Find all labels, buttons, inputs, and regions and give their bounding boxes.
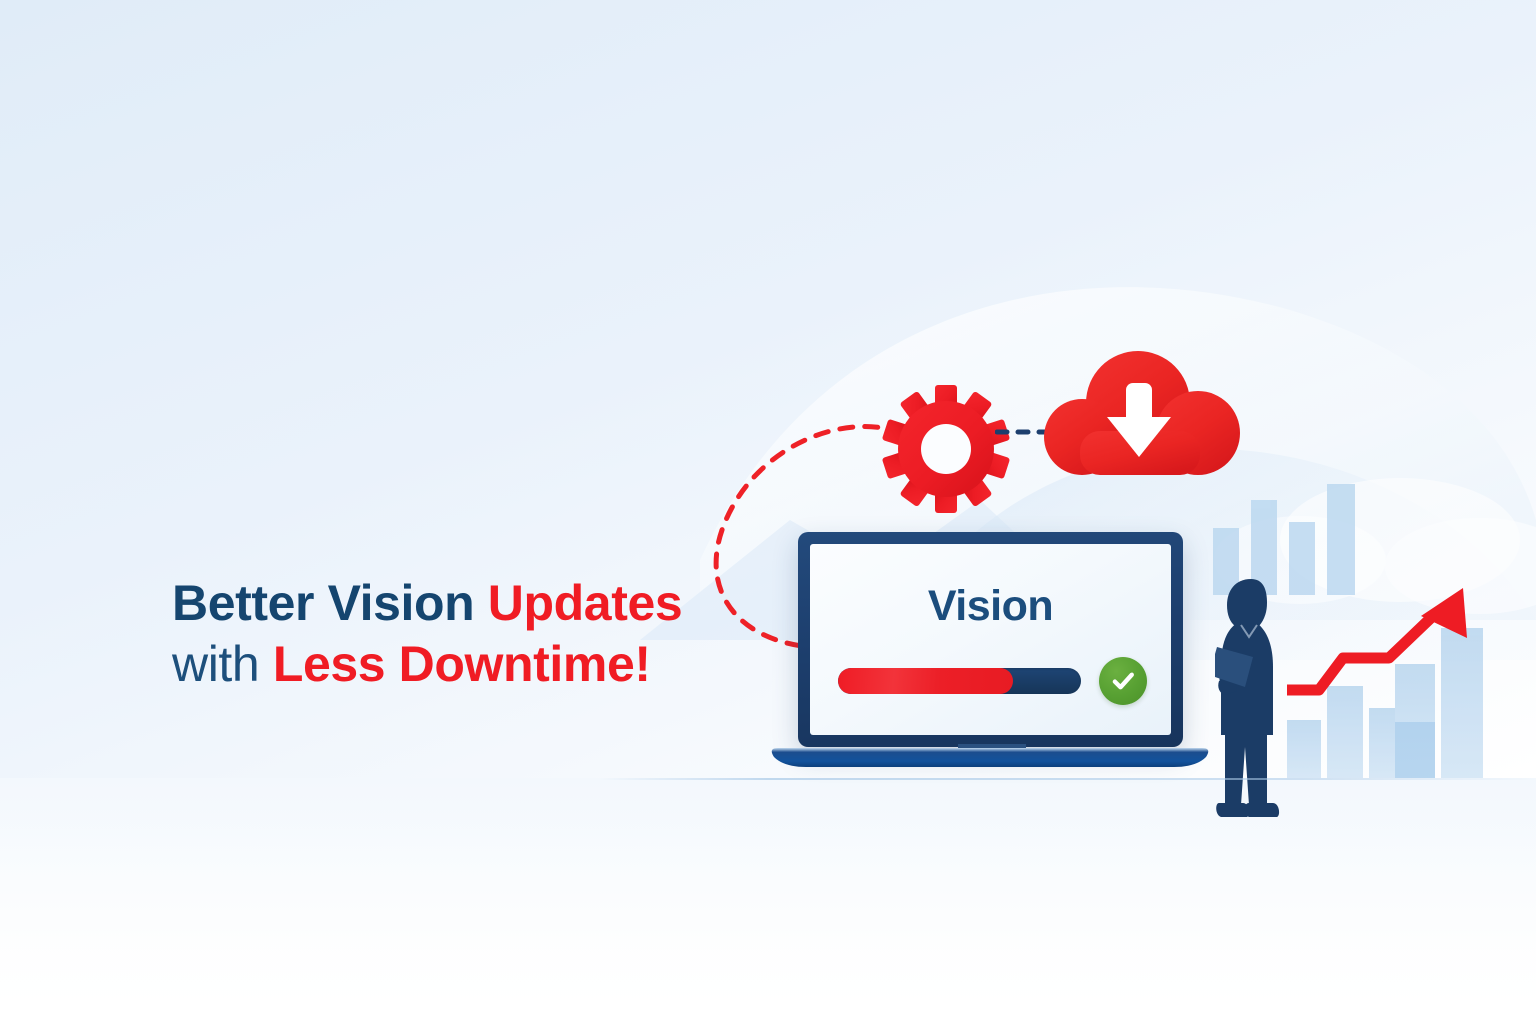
bar-2	[1327, 686, 1363, 778]
laptop-base	[760, 748, 1220, 768]
screen-title: Vision	[810, 582, 1171, 631]
bg-bar-4	[1327, 484, 1355, 595]
check-circle-icon	[1099, 657, 1147, 705]
progress-bar-fill	[838, 668, 1013, 694]
headline-segment-better-vision: Better Vision	[172, 575, 488, 631]
growth-chart	[1285, 580, 1490, 780]
bar-1	[1287, 720, 1321, 778]
bar-overlap	[1395, 722, 1435, 778]
headline-line-2: with Less Downtime!	[172, 639, 792, 691]
headline-segment-updates: Updates	[488, 575, 682, 631]
ground-line	[600, 778, 1536, 780]
laptop-device: Vision	[760, 520, 1220, 810]
bottom-haze	[0, 820, 1536, 1024]
headline-line-1: Better Vision Updates	[172, 578, 792, 630]
poster-canvas: Vision	[0, 0, 1536, 1024]
gear-icon	[880, 383, 1012, 515]
cloud-download-icon	[1030, 345, 1265, 490]
headline: Better Vision Updates with Less Downtime…	[172, 578, 792, 690]
chart-bars	[1287, 628, 1483, 778]
headline-segment-with: with	[172, 636, 273, 692]
growth-arrow	[1287, 588, 1467, 690]
laptop-screen: Vision	[810, 544, 1171, 735]
bar-5	[1441, 628, 1483, 778]
progress-bar[interactable]	[838, 668, 1081, 694]
laptop-lid: Vision	[798, 532, 1183, 747]
update-status-row	[838, 666, 1147, 696]
headline-segment-less-downtime: Less Downtime!	[273, 636, 651, 692]
